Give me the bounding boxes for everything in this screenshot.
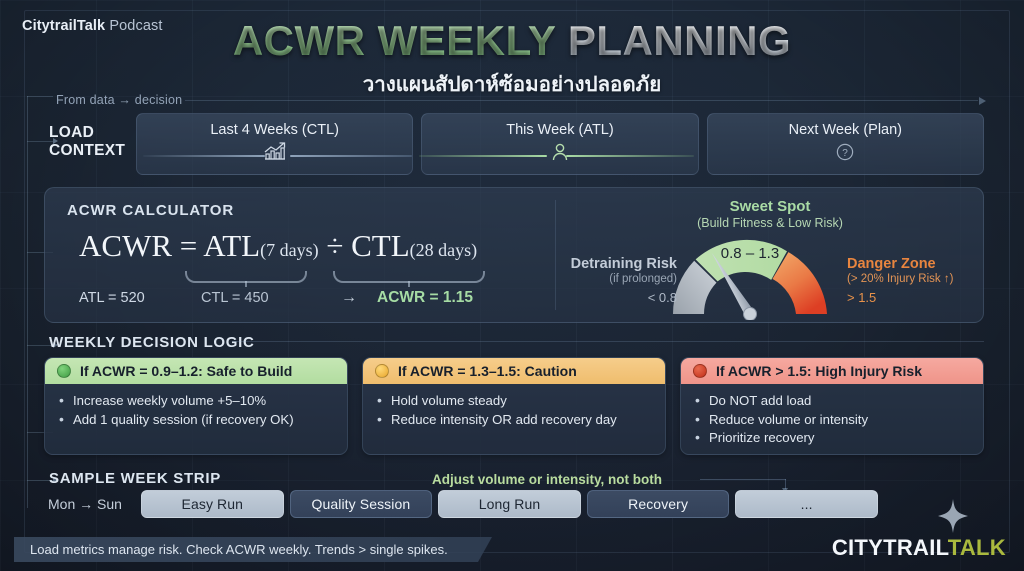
week-chip-more[interactable]: ... — [735, 490, 878, 518]
lc-connector-seg2 — [290, 155, 412, 157]
load-context-card-caption: Last 4 Weeks (CTL) — [210, 122, 339, 138]
section-title-week-strip: SAMPLE WEEK STRIP — [49, 470, 221, 487]
underbrace-ctl — [333, 271, 485, 283]
list-item: Reduce volume or intensity — [695, 411, 973, 430]
page-title: ACWR WEEKLY PLANNING — [0, 20, 1024, 62]
formula-divide: ÷ — [326, 228, 343, 263]
underbrace-atl — [185, 271, 307, 283]
flow-label: From data → decision — [56, 93, 182, 107]
load-context-label-line2: CONTEXT — [49, 142, 125, 160]
logo: CITYTRAILTALK — [832, 535, 1006, 561]
value-atl: ATL = 520 — [79, 290, 201, 306]
formula-ctl-days: (28 days) — [410, 240, 477, 260]
flow-line — [185, 100, 978, 101]
spine-tick-1 — [27, 96, 53, 97]
danger-subtitle: (> 20% Injury Risk ↑) — [847, 273, 1007, 285]
decision-card-body: Hold volume steady Reduce intensity OR a… — [363, 384, 665, 435]
calculator-values: ATL = 520 CTL = 450 → ACWR = 1.15 — [79, 289, 529, 307]
decision-card-caution[interactable]: If ACWR = 1.3–1.5: Caution Hold volume s… — [362, 357, 666, 455]
flow-spine — [27, 96, 28, 508]
title-white-part: PLANNING — [556, 17, 792, 64]
footer-bar: Load metrics manage risk. Check ACWR wee… — [14, 537, 492, 562]
adjust-note-line — [700, 479, 786, 480]
danger-value: > 1.5 — [847, 290, 1007, 305]
formula-atl-days: (7 days) — [260, 240, 318, 260]
week-chip-easy-run[interactable]: Easy Run — [141, 490, 284, 518]
formula-atl: ATL — [203, 228, 260, 263]
list-item: Increase weekly volume +5–10% — [59, 392, 337, 411]
decision-card-title: If ACWR = 0.9–1.2: Safe to Build — [80, 363, 292, 379]
section-title-decision: WEEKLY DECISION LOGIC — [49, 334, 255, 351]
decision-card-header: If ACWR > 1.5: High Injury Risk — [681, 358, 983, 384]
calculator-title: ACWR CALCULATOR — [67, 202, 234, 219]
week-strip-chips: Easy Run Quality Session Long Run Recove… — [141, 490, 878, 518]
gauge-range-label: 0.8 – 1.3 — [665, 245, 835, 262]
load-context-cards: Last 4 Weeks (CTL) This Week (ATL) — [136, 113, 984, 175]
sweet-spot-labels: Sweet Spot (Build Fitness & Low Risk) — [557, 198, 983, 230]
load-context-card-atl[interactable]: This Week (ATL) — [421, 113, 698, 175]
title-green-part: ACWR WEEKLY — [233, 17, 556, 64]
logo-part1: CITYTRAIL — [832, 535, 948, 560]
status-dot-red-icon — [693, 364, 707, 378]
sparkle-icon — [938, 499, 968, 533]
question-circle-icon: ? — [835, 142, 855, 167]
acwr-calculator-panel: ACWR CALCULATOR ACWR = ATL(7 days) ÷ CTL… — [44, 187, 984, 323]
logo-text: CITYTRAILTALK — [832, 535, 1006, 561]
logo-part2: TALK — [948, 535, 1006, 560]
svg-text:?: ? — [843, 148, 849, 159]
formula-lead: ACWR = — [79, 228, 203, 263]
week-days-label: Mon → Sun — [48, 496, 122, 512]
list-item: Do NOT add load — [695, 392, 973, 411]
formula-ctl: CTL — [351, 228, 410, 263]
load-context-card-caption: This Week (ATL) — [506, 122, 613, 138]
detraining-title: Detraining Risk — [567, 256, 677, 272]
value-ctl: CTL = 450 — [201, 290, 321, 306]
poster-canvas: CitytrailTalk Podcast ACWR WEEKLY PLANNI… — [0, 0, 1024, 571]
load-context-card-ctl[interactable]: Last 4 Weeks (CTL) — [136, 113, 413, 175]
gauge-dial — [665, 228, 835, 320]
bar-chart-trend-icon — [262, 142, 288, 167]
list-item: Hold volume steady — [377, 392, 655, 411]
decision-card-safe[interactable]: If ACWR = 0.9–1.2: Safe to Build Increas… — [44, 357, 348, 455]
danger-title: Danger Zone — [847, 256, 1007, 272]
decision-card-body: Increase weekly volume +5–10% Add 1 qual… — [45, 384, 347, 435]
decision-cards: If ACWR = 0.9–1.2: Safe to Build Increas… — [44, 357, 984, 455]
section-line-decision — [232, 341, 984, 342]
adjust-note: Adjust volume or intensity, not both — [432, 472, 662, 487]
decision-card-header: If ACWR = 0.9–1.2: Safe to Build — [45, 358, 347, 384]
status-dot-green-icon — [57, 364, 71, 378]
decision-card-high-risk[interactable]: If ACWR > 1.5: High Injury Risk Do NOT a… — [680, 357, 984, 455]
load-context-label: LOAD CONTEXT — [49, 124, 125, 161]
lc-connector-seg1 — [143, 155, 265, 157]
lc-connector-seg4 — [566, 155, 694, 157]
load-context-label-line1: LOAD — [49, 124, 125, 142]
decision-card-header: If ACWR = 1.3–1.5: Caution — [363, 358, 665, 384]
flow-arrow-icon — [979, 97, 986, 105]
decision-card-title: If ACWR > 1.5: High Injury Risk — [716, 363, 922, 379]
load-context-card-caption: Next Week (Plan) — [789, 122, 902, 138]
title-block: ACWR WEEKLY PLANNING วางแผนสัปดาห์ซ้อมอย… — [0, 20, 1024, 101]
acwr-formula: ACWR = ATL(7 days) ÷ CTL(28 days) — [79, 228, 477, 264]
list-item: Add 1 quality session (if recovery OK) — [59, 411, 337, 430]
decision-card-title: If ACWR = 1.3–1.5: Caution — [398, 363, 577, 379]
list-item: Reduce intensity OR add recovery day — [377, 411, 655, 430]
week-chip-recovery[interactable]: Recovery — [587, 490, 730, 518]
calculator-divider — [555, 200, 556, 310]
list-item: Prioritize recovery — [695, 429, 973, 448]
status-dot-amber-icon — [375, 364, 389, 378]
value-acwr-result: ACWR = 1.15 — [377, 289, 473, 307]
acwr-gauge: Sweet Spot (Build Fitness & Low Risk) — [557, 188, 983, 322]
load-context-card-plan[interactable]: Next Week (Plan) ? — [707, 113, 984, 175]
danger-zone-block: Danger Zone (> 20% Injury Risk ↑) > 1.5 — [847, 256, 1007, 305]
sweet-spot-title: Sweet Spot — [557, 198, 983, 215]
detraining-risk-block: Detraining Risk (if prolonged) < 0.8 — [567, 256, 677, 305]
value-arrow-icon: → — [321, 289, 377, 307]
decision-card-body: Do NOT add load Reduce volume or intensi… — [681, 384, 983, 454]
week-chip-quality-session[interactable]: Quality Session — [290, 490, 433, 518]
lc-connector-seg3 — [419, 155, 547, 157]
footer-text: Load metrics manage risk. Check ACWR wee… — [30, 542, 448, 557]
week-chip-long-run[interactable]: Long Run — [438, 490, 581, 518]
detraining-value: < 0.8 — [567, 290, 677, 305]
detraining-subtitle: (if prolonged) — [567, 273, 677, 285]
